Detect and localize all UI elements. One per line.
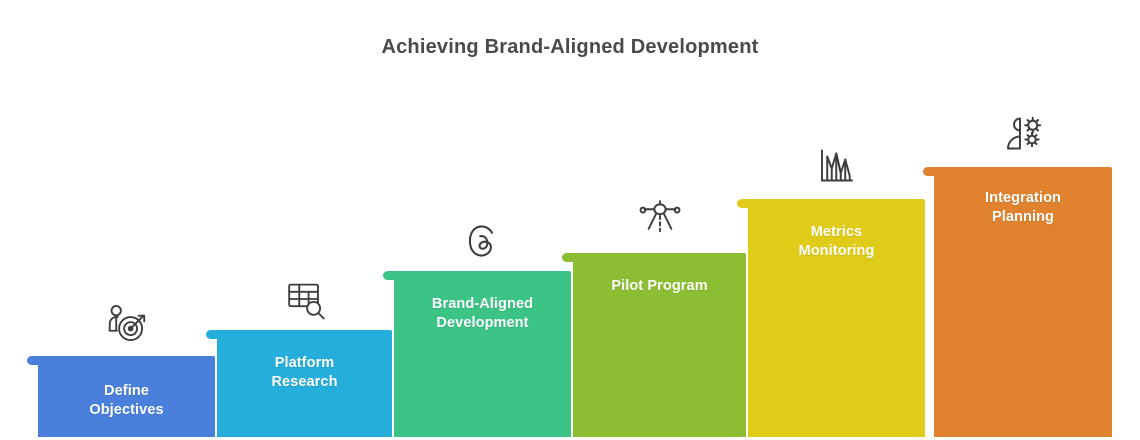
step-label-line1: Integration — [940, 189, 1106, 208]
step-label-line2: Development — [400, 314, 565, 333]
step-brand-aligned-development[interactable]: Brand-Aligned Development — [394, 271, 571, 437]
step-label-line2: Monitoring — [754, 242, 919, 261]
step-notch — [923, 167, 939, 176]
bar-chart-icon — [748, 143, 925, 191]
airplane-front-icon — [573, 193, 746, 245]
step-label-line2: Objectives — [44, 401, 209, 420]
step-platform-research[interactable]: Platform Research — [217, 330, 392, 437]
step-label: Brand-Aligned Development — [394, 295, 571, 333]
step-label: Metrics Monitoring — [748, 223, 925, 261]
step-label: Pilot Program — [573, 277, 746, 296]
person-target-icon — [38, 302, 215, 348]
page-title: Achieving Brand-Aligned Development — [0, 36, 1140, 59]
step-label: Platform Research — [217, 354, 392, 392]
step-label-line1: Pilot Program — [579, 277, 740, 296]
step-notch — [562, 253, 578, 262]
infographic-canvas: Achieving Brand-Aligned Development Defi… — [0, 0, 1140, 440]
step-label-line1: Brand-Aligned — [400, 295, 565, 314]
table-search-icon — [217, 276, 392, 322]
step-notch — [737, 199, 753, 208]
step-label-line1: Platform — [223, 354, 386, 373]
step-label-line1: Metrics — [754, 223, 919, 242]
step-label-line2: Planning — [940, 208, 1106, 227]
step-notch — [383, 271, 399, 280]
step-notch — [27, 356, 43, 365]
step-pilot-program[interactable]: Pilot Program — [573, 253, 746, 437]
step-label-line1: Define — [44, 382, 209, 401]
threads-logo-icon — [394, 219, 571, 263]
step-label: Define Objectives — [38, 382, 215, 420]
step-label: Integration Planning — [934, 189, 1112, 227]
step-metrics-monitoring[interactable]: Metrics Monitoring — [748, 199, 925, 437]
step-label-line2: Research — [223, 373, 386, 392]
step-integration-planning[interactable]: Integration Planning — [934, 167, 1112, 437]
step-notch — [206, 330, 222, 339]
person-gears-icon — [934, 111, 1112, 159]
step-define-objectives[interactable]: Define Objectives — [38, 356, 215, 437]
